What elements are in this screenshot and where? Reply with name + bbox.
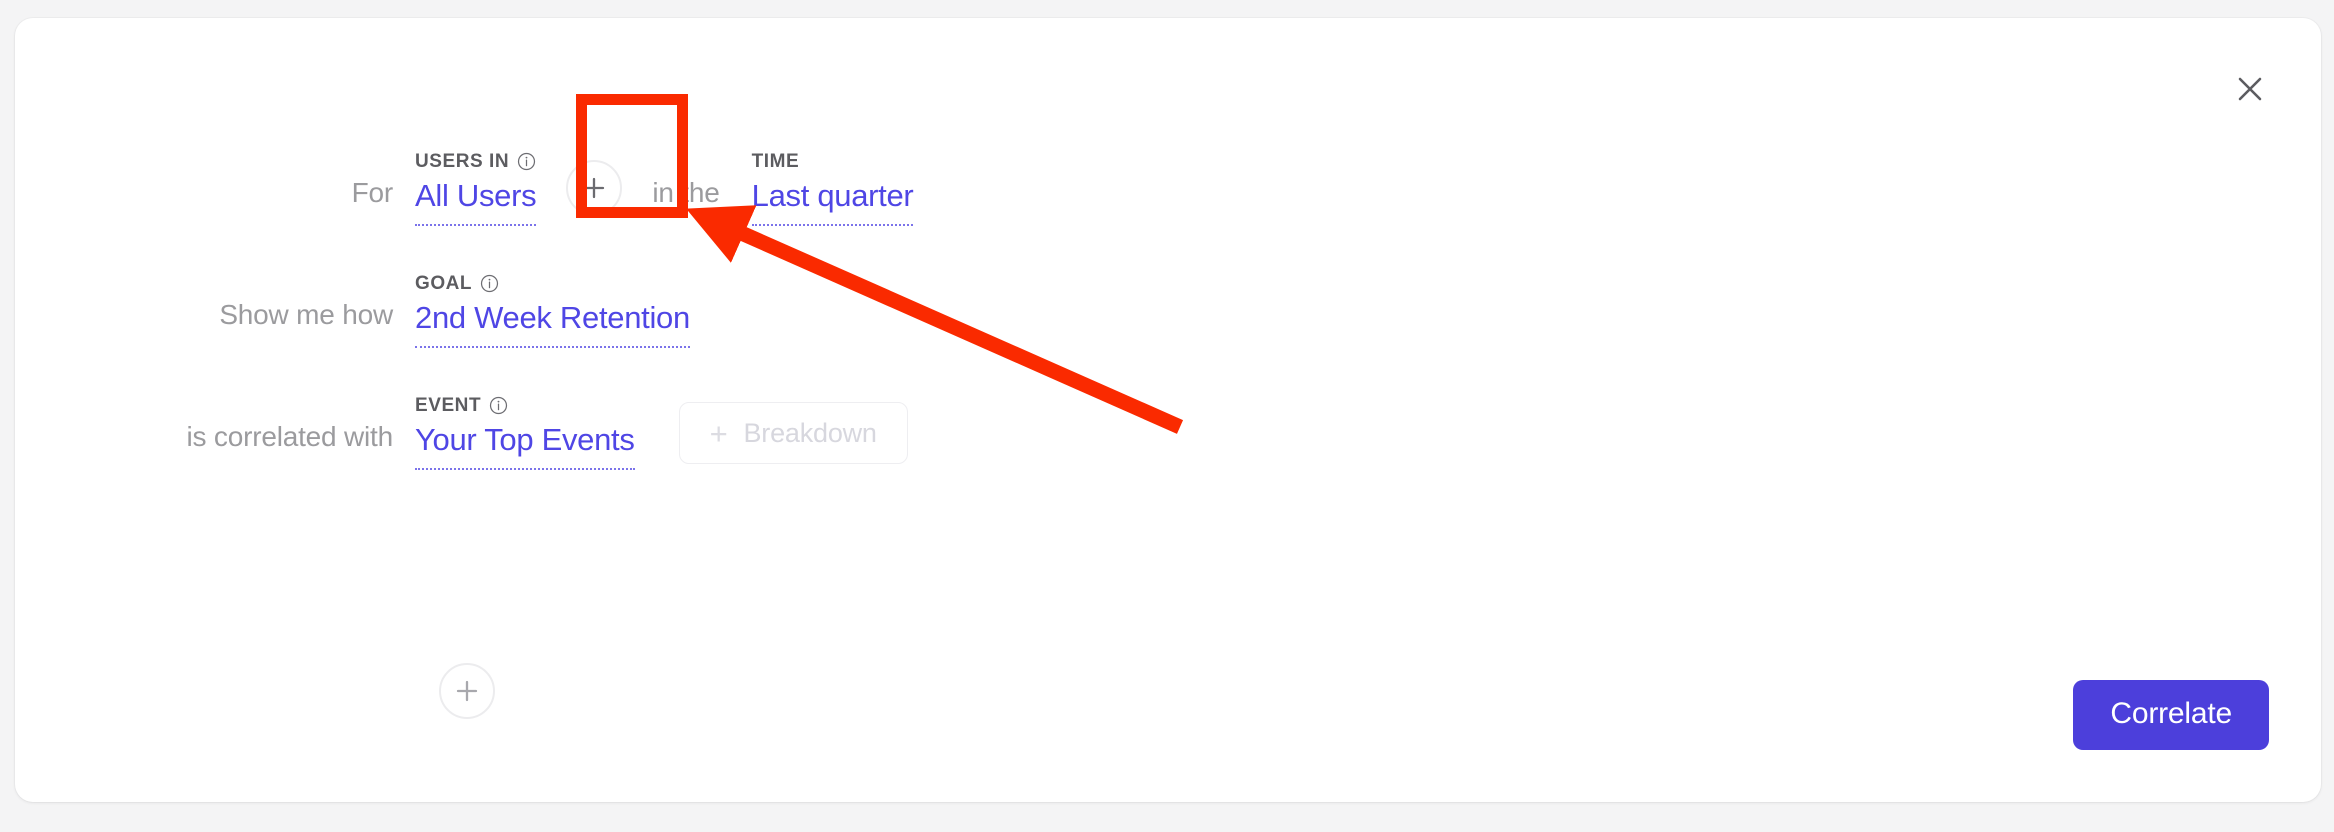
- users-in-label-text: USERS IN: [415, 152, 509, 171]
- row-prefix-show-me-how: Show me how: [15, 301, 415, 348]
- query-row-users: For USERS IN: [15, 104, 2321, 226]
- event-label-text: EVENT: [415, 396, 481, 415]
- plus-icon: +: [710, 418, 728, 449]
- add-cohort-filter-wrap: [536, 160, 652, 226]
- row-event-controls: EVENT Your Top Events: [415, 396, 908, 470]
- query-builder-card: For USERS IN: [15, 18, 2321, 802]
- query-row-event: is correlated with EVENT: [15, 348, 2321, 470]
- event-label: EVENT: [415, 396, 508, 415]
- row-goal-controls: GOAL 2nd Week Retention: [415, 274, 690, 348]
- correlate-button[interactable]: Correlate: [2073, 680, 2269, 750]
- time-label: TIME: [752, 152, 800, 171]
- event-field: EVENT Your Top Events: [415, 396, 635, 470]
- add-step-wrap: [439, 663, 495, 719]
- time-value[interactable]: Last quarter: [752, 180, 914, 226]
- query-row-goal: Show me how GOAL: [15, 226, 2321, 348]
- add-breakdown-button[interactable]: + Breakdown: [679, 402, 908, 464]
- row-users-controls: USERS IN All Users: [415, 152, 913, 226]
- time-field: TIME Last quarter: [752, 152, 914, 226]
- time-label-text: TIME: [752, 152, 800, 171]
- users-in-field: USERS IN All Users: [415, 152, 536, 226]
- row-prefix-for: For: [15, 179, 415, 226]
- goal-label-text: GOAL: [415, 274, 472, 293]
- event-value[interactable]: Your Top Events: [415, 424, 635, 470]
- row-prefix-is-correlated-with: is correlated with: [15, 423, 415, 470]
- info-icon[interactable]: [517, 152, 536, 171]
- users-in-value[interactable]: All Users: [415, 180, 536, 226]
- info-icon[interactable]: [489, 396, 508, 415]
- breakdown-wrap: + Breakdown: [635, 402, 908, 470]
- goal-field: GOAL 2nd Week Retention: [415, 274, 690, 348]
- screen-root: For USERS IN: [0, 0, 2334, 832]
- add-cohort-filter-button[interactable]: [566, 160, 622, 216]
- users-in-label: USERS IN: [415, 152, 536, 171]
- row-mid-in-the: in the: [652, 179, 719, 226]
- info-icon[interactable]: [480, 274, 499, 293]
- breakdown-label: Breakdown: [743, 418, 876, 449]
- goal-value[interactable]: 2nd Week Retention: [415, 302, 690, 348]
- goal-label: GOAL: [415, 274, 499, 293]
- query-rows: For USERS IN: [15, 104, 2321, 470]
- add-step-button[interactable]: [439, 663, 495, 719]
